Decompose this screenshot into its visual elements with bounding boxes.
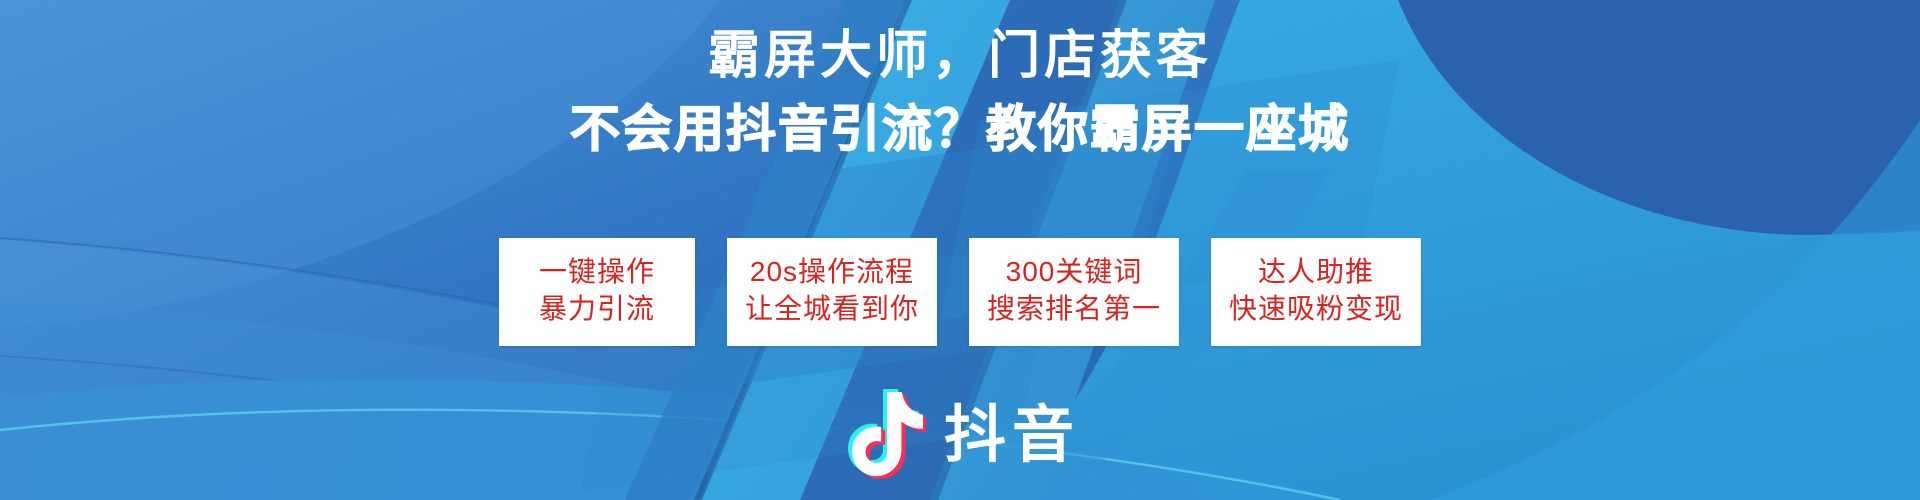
feature-line-2: 暴力引流 [517, 291, 677, 328]
headline-line-1: 霸屏大师，门店获客 [0, 26, 1920, 87]
feature-line-2: 快速吸粉变现 [1229, 291, 1403, 328]
feature-box-row: 一键操作 暴力引流 20s操作流程 让全城看到你 300关键词 搜索排名第一 达… [0, 238, 1920, 346]
feature-line-1: 达人助推 [1229, 254, 1403, 291]
feature-line-1: 300关键词 [987, 254, 1161, 291]
headline-block: 霸屏大师，门店获客 不会用抖音引流？教你霸屏一座城 [0, 26, 1920, 159]
brand-name-label: 抖音 [944, 405, 1080, 467]
feature-box-20s-workflow[interactable]: 20s操作流程 让全城看到你 [727, 238, 937, 346]
headline-line-2: 不会用抖音引流？教你霸屏一座城 [0, 99, 1920, 159]
feature-line-2: 让全城看到你 [745, 291, 919, 328]
douyin-promo-banner: 霸屏大师，门店获客 不会用抖音引流？教你霸屏一座城 一键操作 暴力引流 20s操… [0, 0, 1920, 500]
feature-box-300-keywords[interactable]: 300关键词 搜索排名第一 [969, 238, 1179, 346]
feature-line-1: 一键操作 [517, 254, 677, 291]
feature-box-influencer-boost[interactable]: 达人助推 快速吸粉变现 [1211, 238, 1421, 346]
feature-line-1: 20s操作流程 [745, 254, 919, 291]
feature-line-2: 搜索排名第一 [987, 291, 1161, 328]
feature-box-one-click-operation[interactable]: 一键操作 暴力引流 [499, 238, 695, 346]
brand-logo-row: 抖音 [0, 388, 1920, 484]
douyin-note-icon [840, 388, 926, 484]
